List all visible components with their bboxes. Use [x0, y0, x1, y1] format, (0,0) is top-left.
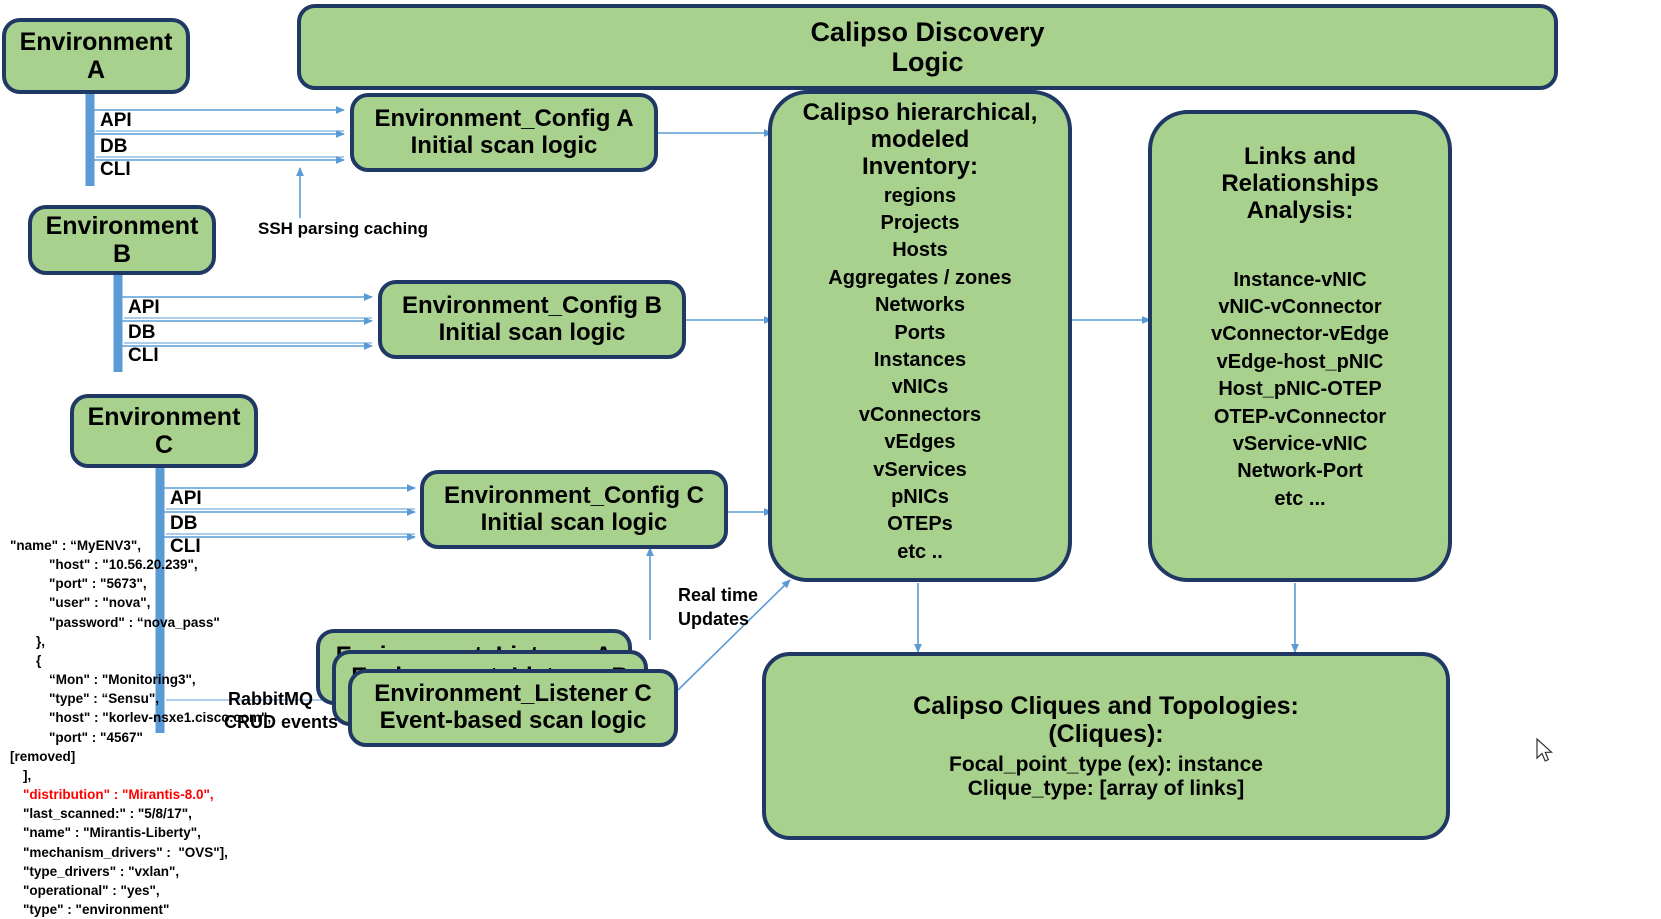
- config-c-line2: Initial scan logic: [481, 510, 668, 537]
- channel-label-api-c: API: [170, 488, 202, 510]
- json-line: "name" : "Mirantis-Liberty",: [10, 823, 320, 842]
- inventory-item: Instances: [828, 347, 1011, 374]
- config-a-line1: Environment_Config A: [374, 106, 633, 133]
- link-item: Network-Port: [1211, 458, 1389, 485]
- channel-label-api-a: API: [100, 110, 132, 132]
- links-items-list: Instance-vNIC vNIC-vConnector vConnector…: [1211, 267, 1389, 514]
- listener-c-line2: Event-based scan logic: [380, 708, 647, 735]
- inventory-heading-line1: Calipso hierarchical,: [803, 100, 1038, 127]
- json-line: "type_drivers" : "vxlan",: [10, 862, 320, 881]
- config-a-line2: Initial scan logic: [411, 133, 598, 160]
- channel-label-api-b: API: [128, 297, 160, 319]
- environment-json-snippet: "name" : “MyENV3","host" : "10.56.20.239…: [10, 536, 320, 919]
- calipso-discovery-logic-header[interactable]: Calipso Discovery Logic: [297, 4, 1558, 90]
- realtime-updates-line1: Real time: [678, 585, 758, 606]
- header-line1: Calipso Discovery: [810, 17, 1044, 47]
- link-item: etc ...: [1211, 486, 1389, 513]
- json-line: "password" : “nova_pass": [10, 613, 320, 632]
- json-line: "host" : "10.56.20.239",: [10, 555, 320, 574]
- link-item: vEdge-host_pNIC: [1211, 349, 1389, 376]
- environment-b-box[interactable]: Environment B: [28, 205, 216, 275]
- inventory-item: Ports: [828, 320, 1011, 347]
- inventory-item: regions: [828, 183, 1011, 210]
- inventory-items-list: regions Projects Hosts Aggregates / zone…: [828, 183, 1011, 566]
- cliques-line3: Focal_point_type (ex): instance: [949, 753, 1263, 777]
- channel-label-db-c: DB: [170, 513, 197, 535]
- json-line: "type" : “Sensu",: [10, 689, 320, 708]
- cliques-line1: Calipso Cliques and Topologies:: [913, 692, 1299, 720]
- inventory-item: vConnectors: [828, 402, 1011, 429]
- environment-listener-c-box[interactable]: Environment_Listener C Event-based scan …: [348, 669, 678, 747]
- listener-c-line1: Environment_Listener C: [374, 681, 651, 708]
- json-line: {: [10, 651, 320, 670]
- json-line: "user" : "nova",: [10, 593, 320, 612]
- mouse-cursor: [1536, 738, 1554, 769]
- channel-label-db-a: DB: [100, 136, 127, 158]
- inventory-item: Aggregates / zones: [828, 265, 1011, 292]
- json-line: "name" : “MyENV3",: [10, 536, 320, 555]
- header-line2: Logic: [892, 47, 964, 77]
- cliques-line2: (Cliques):: [1048, 720, 1163, 748]
- inventory-item: Projects: [828, 210, 1011, 237]
- environment-config-c-box[interactable]: Environment_Config C Initial scan logic: [420, 470, 728, 549]
- diagram-canvas: Calipso Discovery Logic Environment A En…: [0, 0, 1661, 914]
- realtime-updates-line2: Updates: [678, 609, 749, 630]
- environment-b-line1: Environment: [46, 212, 199, 240]
- json-line: "port" : "4567": [10, 728, 320, 747]
- json-line: ],: [10, 766, 320, 785]
- inventory-heading-line3: Inventory:: [862, 154, 978, 181]
- link-item: OTEP-vConnector: [1211, 404, 1389, 431]
- channel-label-cli-b: CLI: [128, 345, 159, 367]
- json-line: "type" : "environment": [10, 900, 320, 919]
- links-heading-line1: Links and: [1244, 144, 1356, 171]
- calipso-inventory-box[interactable]: Calipso hierarchical, modeled Inventory:…: [768, 90, 1072, 582]
- link-item: Host_pNIC-OTEP: [1211, 376, 1389, 403]
- inventory-heading-line2: modeled: [871, 127, 970, 154]
- environment-config-a-box[interactable]: Environment_Config A Initial scan logic: [350, 93, 658, 172]
- link-item: vService-vNIC: [1211, 431, 1389, 458]
- links-heading-line3: Analysis:: [1247, 198, 1354, 225]
- inventory-item: vNICs: [828, 374, 1011, 401]
- environment-c-line1: Environment: [88, 403, 241, 431]
- channel-label-cli-a: CLI: [100, 159, 131, 181]
- inventory-item: OTEPs: [828, 511, 1011, 538]
- inventory-item: pNICs: [828, 484, 1011, 511]
- json-line: "mechanism_drivers" : "OVS"],: [10, 843, 320, 862]
- config-b-line1: Environment_Config B: [402, 293, 662, 320]
- json-line: "distribution" : "Mirantis-8.0",: [10, 785, 320, 804]
- calipso-cliques-topologies-box[interactable]: Calipso Cliques and Topologies: (Cliques…: [762, 652, 1450, 840]
- config-b-line2: Initial scan logic: [439, 320, 626, 347]
- json-line: [removed]: [10, 747, 320, 766]
- environment-a-line1: Environment: [20, 28, 173, 56]
- inventory-item: Networks: [828, 292, 1011, 319]
- ssh-parsing-caching-label: SSH parsing caching: [258, 219, 428, 239]
- environment-c-line2: C: [155, 431, 173, 459]
- environment-config-b-box[interactable]: Environment_Config B Initial scan logic: [378, 280, 686, 359]
- json-line: },: [10, 632, 320, 651]
- inventory-item: etc ..: [828, 539, 1011, 566]
- json-line: "operational" : "yes",: [10, 881, 320, 900]
- json-line: "last_scanned:" : "5/8/17",: [10, 804, 320, 823]
- json-line: "port" : "5673",: [10, 574, 320, 593]
- environment-b-line2: B: [113, 240, 131, 268]
- cliques-line4: Clique_type: [array of links]: [968, 777, 1245, 801]
- environment-a-line2: A: [87, 56, 105, 84]
- json-line: "host" : "korlev-nsxe1.cisco.com",: [10, 708, 320, 727]
- config-c-line1: Environment_Config C: [444, 483, 704, 510]
- link-item: vConnector-vEdge: [1211, 321, 1389, 348]
- link-item: Instance-vNIC: [1211, 267, 1389, 294]
- inventory-item: vServices: [828, 457, 1011, 484]
- environment-c-box[interactable]: Environment C: [70, 394, 258, 468]
- channel-label-db-b: DB: [128, 322, 155, 344]
- inventory-item: vEdges: [828, 429, 1011, 456]
- links-relationships-box[interactable]: Links and Relationships Analysis: Instan…: [1148, 110, 1452, 582]
- json-line: “Mon" : "Monitoring3",: [10, 670, 320, 689]
- environment-a-box[interactable]: Environment A: [2, 18, 190, 94]
- links-heading-line2: Relationships: [1221, 171, 1378, 198]
- link-item: vNIC-vConnector: [1211, 294, 1389, 321]
- inventory-item: Hosts: [828, 237, 1011, 264]
